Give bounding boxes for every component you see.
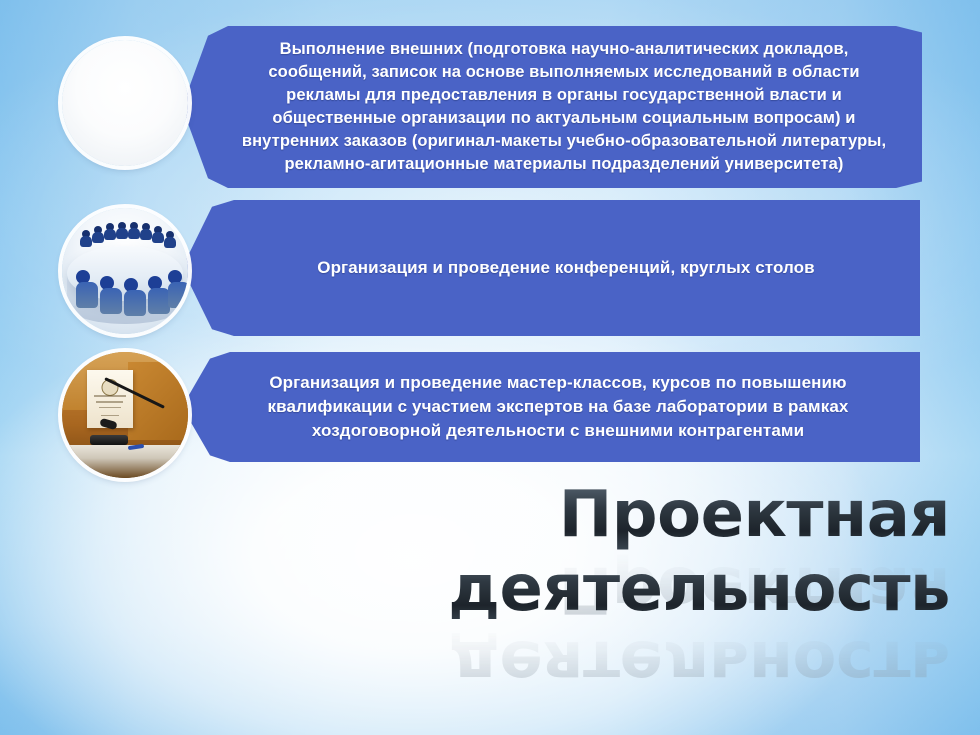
- books-background: [62, 40, 188, 166]
- open-books-sketch-image: [62, 40, 188, 166]
- person-figure: [104, 223, 115, 240]
- person-figure: [100, 276, 111, 314]
- certificate-text-line: [94, 395, 127, 397]
- banner-text-external-orders: Выполнение внешних (подготовка научно-ан…: [182, 38, 922, 176]
- title-line-2: деятельность: [250, 552, 950, 626]
- banner-conferences[interactable]: Организация и проведение конференций, кр…: [182, 200, 920, 336]
- desk-surface: [62, 445, 188, 478]
- person-figure: [148, 276, 159, 314]
- banner-external-orders[interactable]: Выполнение внешних (подготовка научно-ан…: [182, 26, 922, 188]
- microphone-base-icon: [90, 435, 128, 445]
- title-line-2-reflection: деятельность: [250, 626, 950, 700]
- wooden-panel: [128, 362, 188, 440]
- certificate-text-line: [99, 407, 121, 409]
- meeting-illustration: [62, 208, 188, 334]
- person-figure: [116, 222, 127, 239]
- person-figure: [124, 278, 135, 316]
- page-title: Проектная Проектная деятельность деятель…: [250, 478, 950, 626]
- certificate-scene: [62, 352, 188, 478]
- person-figure: [152, 226, 163, 243]
- round-table-meeting-image: [62, 208, 188, 334]
- banner-text-master-classes: Организация и проведение мастер-классов,…: [182, 371, 920, 443]
- person-figure: [168, 270, 179, 308]
- title-line-2-wrap: деятельность деятельность: [250, 552, 950, 626]
- open-books-illustration: [62, 40, 188, 166]
- certificate-text-line: [101, 415, 119, 417]
- person-figure: [140, 223, 151, 240]
- title-line-1-wrap: Проектная Проектная: [250, 478, 950, 552]
- certificate-text-line: [96, 401, 123, 403]
- person-figure: [92, 226, 103, 243]
- title-line-1: Проектная: [250, 478, 950, 552]
- person-figure: [76, 270, 87, 308]
- person-figure: [80, 230, 91, 247]
- banner-master-classes[interactable]: Организация и проведение мастер-классов,…: [182, 352, 920, 462]
- presentation-slide: Выполнение внешних (подготовка научно-ан…: [0, 0, 980, 735]
- person-figure: [164, 231, 175, 248]
- person-figure: [128, 222, 139, 239]
- certificate-microphone-photo: [62, 352, 188, 478]
- banner-text-conferences: Организация и проведение конференций, кр…: [182, 256, 920, 280]
